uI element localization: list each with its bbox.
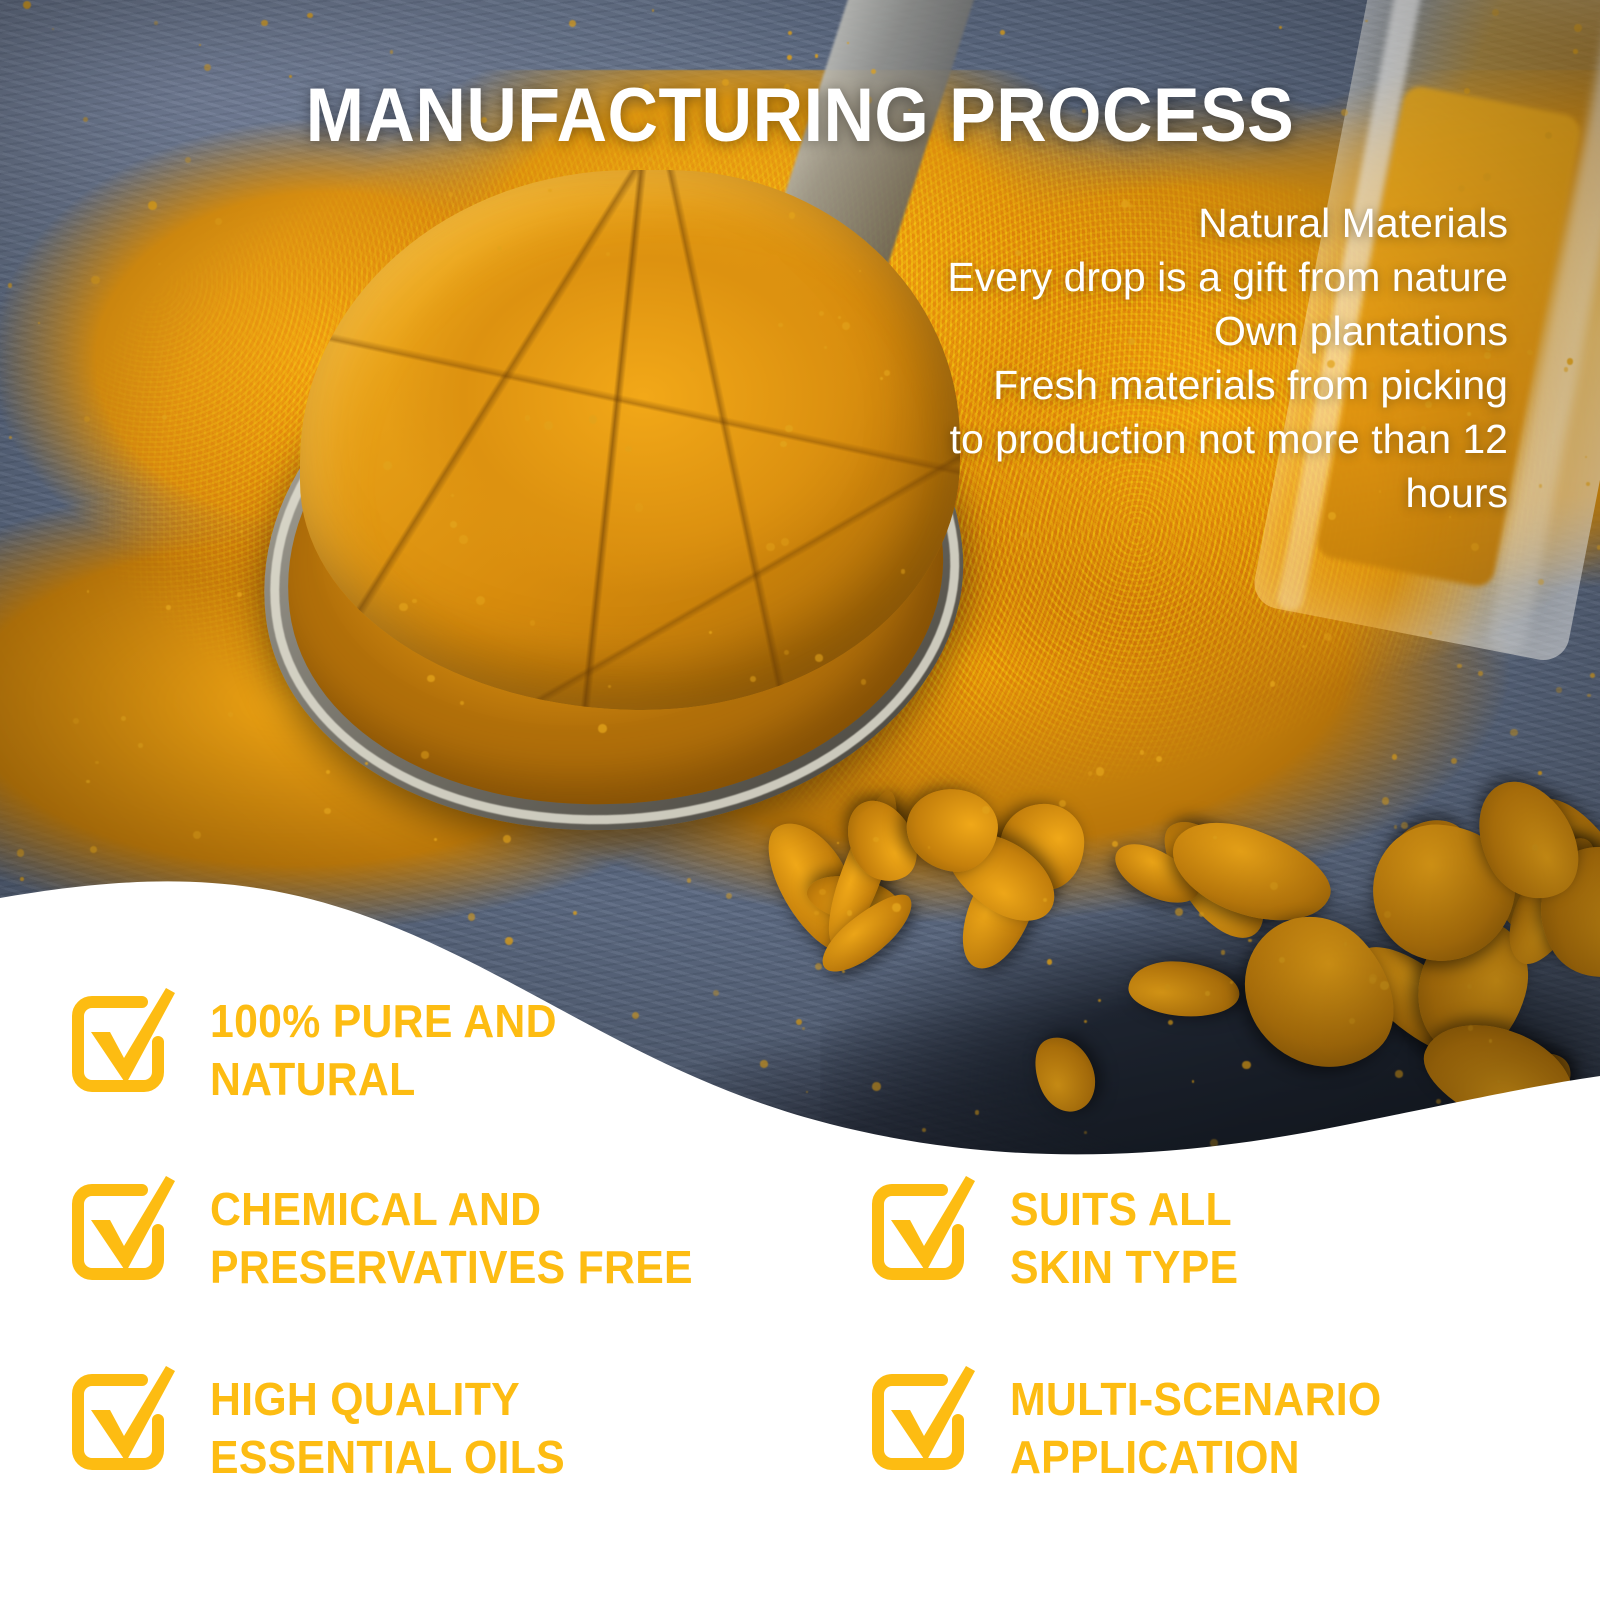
blurb-line: to production not more than 12: [748, 412, 1508, 466]
checkbox-check-icon: [862, 1168, 980, 1286]
feature-label: HIGH QUALITY ESSENTIAL OILS: [210, 1358, 565, 1486]
blurb-line: Fresh materials from picking: [748, 358, 1508, 412]
blurb-line: Own plantations: [748, 304, 1508, 358]
blurb-line: hours: [748, 466, 1508, 520]
checkbox-check-icon: [862, 1358, 980, 1476]
checkbox-check-icon: [62, 980, 180, 1098]
feature-list: 100% PURE AND NATURAL CHEMICAL AND PRESE…: [0, 940, 1600, 1600]
feature-item[interactable]: 100% PURE AND NATURAL: [62, 980, 583, 1108]
checkbox-check-icon: [62, 1358, 180, 1476]
feature-item[interactable]: HIGH QUALITY ESSENTIAL OILS: [62, 1358, 592, 1486]
feature-label: 100% PURE AND NATURAL: [210, 980, 557, 1108]
feature-item[interactable]: MULTI-SCENARIO APPLICATION: [862, 1358, 1409, 1486]
feature-item[interactable]: CHEMICAL AND PRESERVATIVES FREE: [62, 1168, 729, 1296]
hero-blurb: Natural Materials Every drop is a gift f…: [748, 196, 1508, 520]
infographic-root: MANUFACTURING PROCESS Natural Materials …: [0, 0, 1600, 1600]
feature-label: CHEMICAL AND PRESERVATIVES FREE: [210, 1168, 693, 1296]
feature-label: SUITS ALL SKIN TYPE: [1010, 1168, 1238, 1296]
checkbox-check-icon: [62, 1168, 180, 1286]
feature-item[interactable]: SUITS ALL SKIN TYPE: [862, 1168, 1256, 1296]
feature-label: MULTI-SCENARIO APPLICATION: [1010, 1358, 1381, 1486]
blurb-line: Natural Materials: [748, 196, 1508, 250]
page-title: MANUFACTURING PROCESS: [64, 72, 1536, 159]
blurb-line: Every drop is a gift from nature: [748, 250, 1508, 304]
